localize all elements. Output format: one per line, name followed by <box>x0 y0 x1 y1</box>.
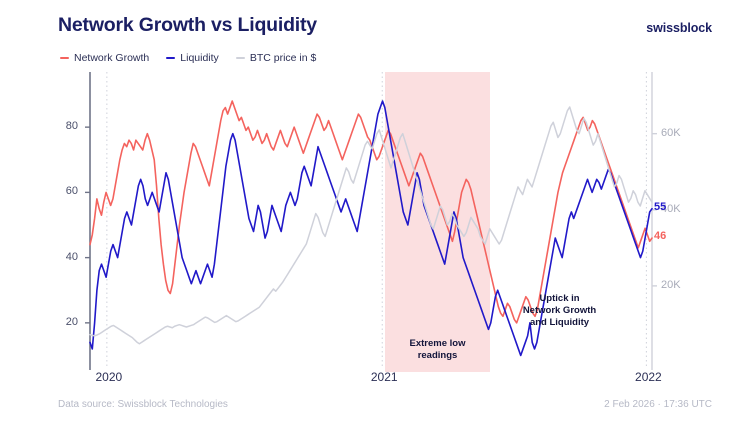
annotation-extreme-low-readings: Extreme low readings <box>390 338 485 362</box>
left-axis-label-80: 80 <box>38 120 78 132</box>
right-axis-label-60K: 60K <box>661 127 681 139</box>
x-tick-label-2021: 2021 <box>364 370 404 384</box>
chart-canvas <box>0 0 750 421</box>
timestamp-text: 2 Feb 2026 · 17:36 UTC <box>604 399 712 410</box>
left-axis-label-60: 60 <box>38 185 78 197</box>
liquidity-end-value: 55 <box>654 201 666 213</box>
left-axis-label-40: 40 <box>38 251 78 263</box>
annotation-uptick-note: Uptick in Network Growth and Liquidity <box>512 293 607 329</box>
chart-page: Network Growth vs Liquidity swissblock N… <box>0 0 750 421</box>
x-tick-label-2020: 2020 <box>89 370 129 384</box>
x-tick-label-2022: 2022 <box>628 370 668 384</box>
network-growth-end-value: 46 <box>654 230 666 242</box>
data-source-text: Data source: Swissblock Technologies <box>58 399 228 410</box>
left-axis-label-20: 20 <box>38 316 78 328</box>
right-axis-label-20K: 20K <box>661 279 681 291</box>
